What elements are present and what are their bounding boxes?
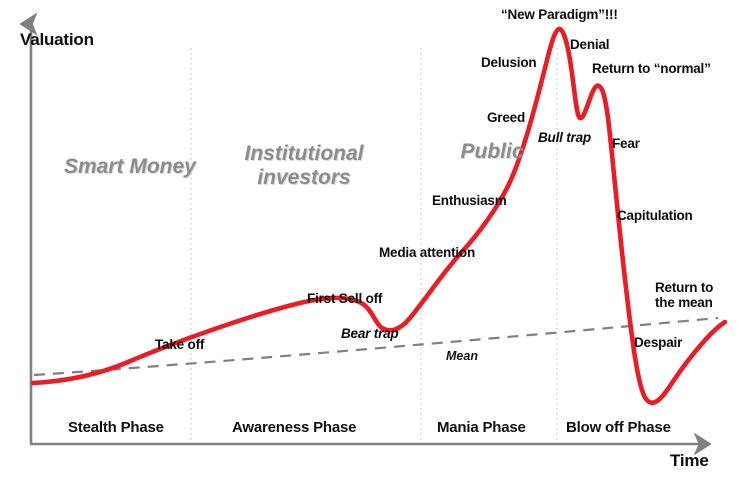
annotation-capitulation: Capitulation bbox=[617, 209, 693, 223]
annotation-new-paradigm: “New Paradigm”!!! bbox=[501, 8, 618, 22]
annotation-greed: Greed bbox=[487, 111, 525, 125]
bubble-stages-chart: Valuation Time Smart Money Institutional… bbox=[0, 0, 742, 491]
annotation-denial: Denial bbox=[570, 38, 609, 52]
phase-label-stealth: Stealth Phase bbox=[68, 420, 164, 435]
phase-label-mania: Mania Phase bbox=[437, 420, 526, 435]
annotation-return-to-the-mean: Return to the mean bbox=[655, 280, 713, 310]
x-axis-title: Time bbox=[670, 452, 709, 469]
annotation-first-sell-off: First Sell off bbox=[307, 292, 382, 306]
actor-label-public: Public bbox=[452, 140, 532, 164]
y-axis-title: Valuation bbox=[20, 31, 94, 48]
phase-label-awareness: Awareness Phase bbox=[232, 420, 356, 435]
annotation-bull-trap: Bull trap bbox=[538, 131, 591, 145]
annotation-bear-trap: Bear trap bbox=[341, 327, 398, 341]
actor-label-institutional-investors: Institutional investors bbox=[228, 142, 380, 189]
annotation-fear: Fear bbox=[612, 137, 640, 151]
actor-label-smart-money: Smart Money bbox=[64, 155, 194, 179]
annotation-take-off: Take off bbox=[155, 338, 204, 352]
annotation-return-to-normal: Return to “normal” bbox=[592, 62, 711, 76]
annotation-delusion: Delusion bbox=[481, 56, 536, 70]
phase-dividers bbox=[191, 48, 557, 443]
annotation-enthusiasm: Enthusiasm bbox=[432, 194, 507, 208]
phase-label-blowoff: Blow off Phase bbox=[566, 420, 671, 435]
annotation-despair: Despair bbox=[634, 336, 682, 350]
annotation-media-attention: Media attention bbox=[379, 246, 475, 260]
annotation-mean: Mean bbox=[446, 350, 478, 363]
